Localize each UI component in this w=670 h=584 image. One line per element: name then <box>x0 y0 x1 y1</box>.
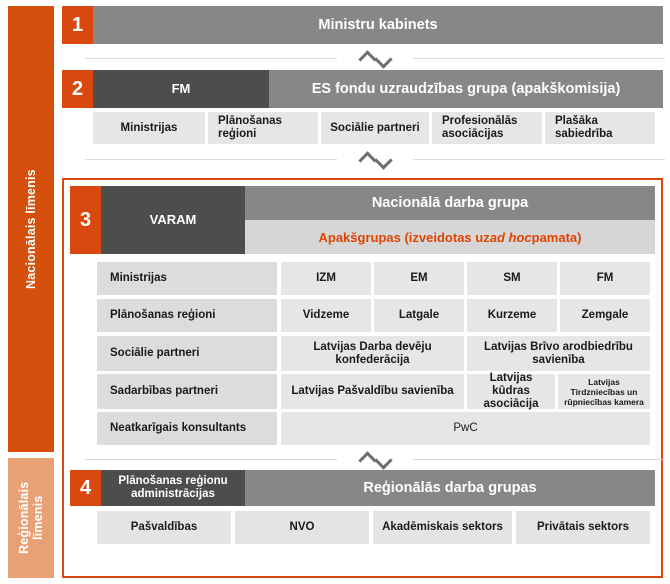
section-2-number: 2 <box>62 70 93 108</box>
section-2-owner: FM <box>93 70 269 108</box>
section-3-cell: Latvijas kūdras asociācija <box>467 374 555 409</box>
section-2-member: Profesionālās asociācijas <box>432 112 542 144</box>
section-1-title: Ministru kabinets <box>93 6 663 44</box>
section-3-number: 3 <box>70 186 101 254</box>
section-2-member: Plānošanas reģioni <box>208 112 318 144</box>
section-1-band: 1 Ministru kabinets <box>62 6 663 44</box>
section-2-band: 2 FM ES fondu uzraudzības grupa (apakško… <box>62 70 663 108</box>
section-3-cell: Latvijas Pašvaldību savienība <box>281 374 464 409</box>
section-3-band: 3 VARAM Nacionālā darba grupa Apakšgrupa… <box>70 186 655 254</box>
section-3-row-head: Plānošanas reģioni <box>97 299 277 332</box>
section-2-member: Sociālie partneri <box>321 112 429 144</box>
section-3-cell: PwC <box>281 412 650 445</box>
level-rail-national: Nacionālais līmenis <box>8 6 54 452</box>
section-4-title: Reģionālās darba grupas <box>245 470 655 506</box>
section-4-member: Pašvaldības <box>97 511 231 544</box>
section-3-cell: EM <box>374 262 464 295</box>
chevron-pair-icon <box>352 51 398 67</box>
section-3-row-head: Ministrijas <box>97 262 277 295</box>
section-3-cell: Kurzeme <box>467 299 557 332</box>
section-4-member: NVO <box>235 511 369 544</box>
section-2-member: Plašāka sabiedrība <box>545 112 655 144</box>
section-3-title: Nacionālā darba grupa <box>245 186 655 220</box>
separator-1-2 <box>85 47 665 71</box>
section-3-cell: Latvijas Darba devēju konfederācija <box>281 336 464 371</box>
section-3-cell: Zemgale <box>560 299 650 332</box>
section-3-cell: FM <box>560 262 650 295</box>
chevron-pair-icon <box>352 452 398 468</box>
section-3-cell: IZM <box>281 262 371 295</box>
section-3-row-head: Sociālie partneri <box>97 336 277 371</box>
separator-3-4 <box>85 448 665 472</box>
section-3-subtitle: Apakšgrupas (izveidotas uz ad hoc pamata… <box>245 220 655 254</box>
section-3-cell: Latvijas Brīvo arodbiedrību savienība <box>467 336 650 371</box>
chevron-pair-icon <box>352 152 398 168</box>
section-3-cell: SM <box>467 262 557 295</box>
section-4-member: Akadēmiskais sektors <box>373 511 512 544</box>
section-3-row-head: Neatkarīgais konsultants <box>97 412 277 445</box>
separator-2-3 <box>85 148 665 172</box>
section-3-cell: Latgale <box>374 299 464 332</box>
level-rail-national-label: Nacionālais līmenis <box>8 6 54 452</box>
section-2-title: ES fondu uzraudzības grupa (apakškomisij… <box>269 70 663 108</box>
section-3-subtitle-italic: ad hoc <box>490 230 532 245</box>
section-4-band: 4 Plānošanas reģionu administrācijas Reģ… <box>70 470 655 506</box>
section-3-subtitle-pre: Apakšgrupas (izveidotas uz <box>319 230 490 245</box>
section-2-member: Ministrijas <box>93 112 205 144</box>
section-3-cell: Latvijas Tirdzniecības un rūpniecības ka… <box>558 374 650 409</box>
level-rail-regional: Reģionālais līmenis <box>8 458 54 578</box>
section-3-cell: Vidzeme <box>281 299 371 332</box>
section-3-subtitle-post: pamata) <box>532 230 582 245</box>
section-4-number: 4 <box>70 470 101 506</box>
section-3-row-head: Sadarbības partneri <box>97 374 277 409</box>
section-1-number: 1 <box>62 6 93 44</box>
org-structure-diagram: Nacionālais līmenis Reģionālais līmenis … <box>0 0 670 584</box>
section-3-owner: VARAM <box>101 186 245 254</box>
level-rail-regional-label: Reģionālais līmenis <box>8 458 54 578</box>
section-4-owner: Plānošanas reģionu administrācijas <box>101 470 245 506</box>
section-4-member: Privātais sektors <box>516 511 650 544</box>
